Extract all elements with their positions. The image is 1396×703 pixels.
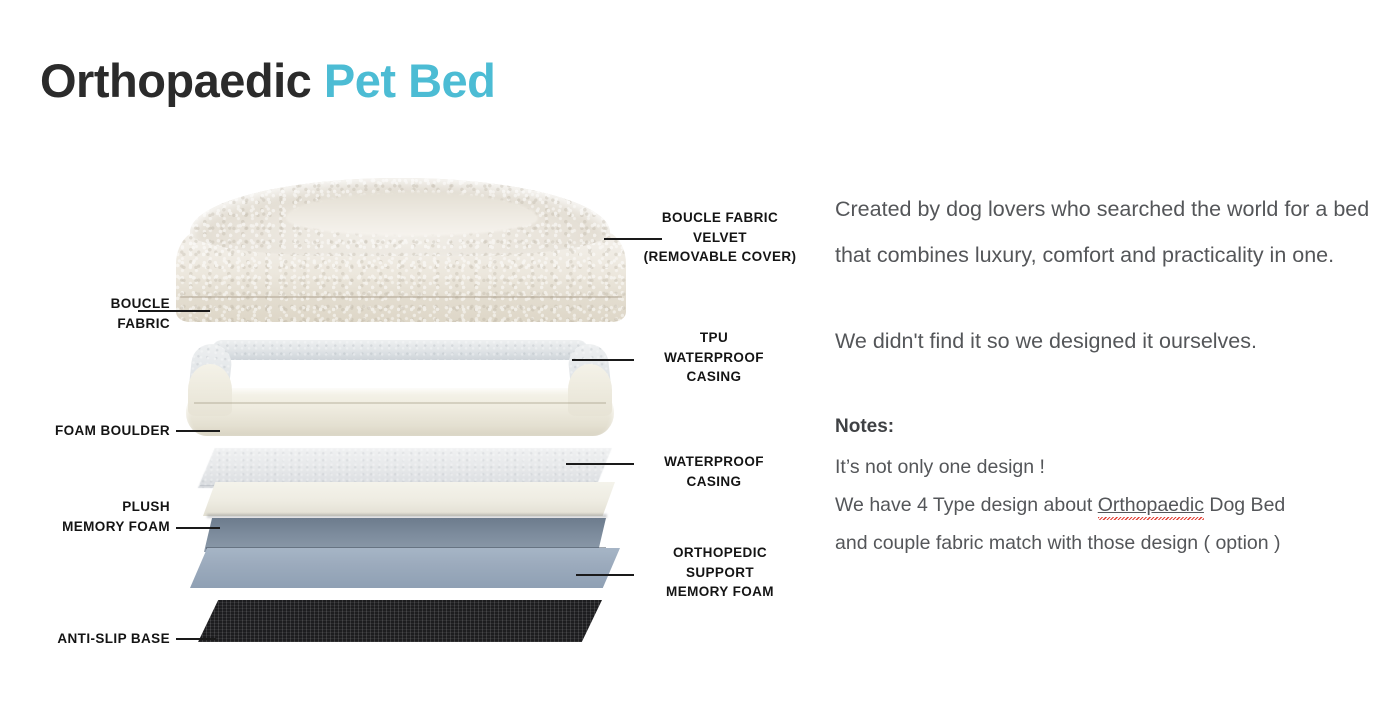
callout-tpu-waterproof-casing: TPU WATERPROOF CASING <box>634 328 794 387</box>
orthopedic-foam-face <box>190 548 620 588</box>
foam-boulder-cap-left <box>188 364 232 416</box>
layer-plush-memory-foam <box>203 482 615 520</box>
anti-slip-mesh-texture <box>198 600 602 642</box>
leader-line-anti-slip-base <box>176 638 216 640</box>
callout-line-2: WATERPROOF <box>634 348 794 368</box>
callout-line-1: ANTI-SLIP BASE <box>12 629 170 649</box>
marketing-copy-column: Created by dog lovers who searched the w… <box>835 186 1390 562</box>
page-title-primary: Orthopaedic <box>40 54 311 107</box>
callout-line-2: FABRIC <box>22 314 170 334</box>
tpu-texture <box>212 340 588 360</box>
leader-line-orthopedic-support-foam <box>576 574 634 576</box>
callout-line-2: MEMORY FOAM <box>12 517 170 537</box>
tpu-back-rail <box>212 340 588 360</box>
callout-waterproof-casing: WATERPROOF CASING <box>634 452 794 491</box>
callout-anti-slip-base: ANTI-SLIP BASE <box>12 629 170 649</box>
cushion-seam <box>180 296 622 298</box>
callout-line-2: SUPPORT <box>634 563 806 583</box>
callout-boucle-fabric: BOUCLE FABRIC <box>22 294 170 333</box>
leader-line-foam-boulder <box>176 430 220 432</box>
leader-line-plush-memory-foam <box>176 527 220 529</box>
intro-paragraph: Created by dog lovers who searched the w… <box>835 186 1390 278</box>
layer-foam-boulder <box>186 388 614 436</box>
leader-line-waterproof-casing <box>566 463 634 465</box>
notes-line-2-suffix: Dog Bed <box>1204 494 1285 516</box>
callout-line-1: TPU <box>634 328 794 348</box>
notes-line-1: It’s not only one design ! <box>835 448 1390 486</box>
callout-line-3: MEMORY FOAM <box>634 582 806 602</box>
callout-line-1: WATERPROOF <box>634 452 794 472</box>
callout-foam-boulder: FOAM BOULDER <box>12 421 170 441</box>
cushion-hollow <box>286 192 538 236</box>
notes-block: Notes: It’s not only one design ! We hav… <box>835 416 1390 562</box>
notes-line-2-prefix: We have 4 Type design about <box>835 494 1098 516</box>
layer-boucle-cushion <box>176 178 626 338</box>
cushion-bolster <box>190 178 610 256</box>
callout-line-3: (REMOVABLE COVER) <box>634 247 806 267</box>
callout-orthopedic-support-foam: ORTHOPEDIC SUPPORT MEMORY FOAM <box>634 543 806 602</box>
layer-orthopedic-memory-foam <box>190 518 620 590</box>
plush-memory-foam-face <box>203 482 615 516</box>
notes-heading: Notes: <box>835 416 1390 438</box>
foam-boulder-cap-right <box>568 364 612 416</box>
notes-line-2: We have 4 Type design about Orthopaedic … <box>835 486 1390 524</box>
callout-line-1: ORTHOPEDIC <box>634 543 806 563</box>
callout-line-1: BOUCLE FABRIC <box>634 208 806 228</box>
notes-line-3: and couple fabric match with those desig… <box>835 524 1390 562</box>
notes-misspelled-word: Orthopaedic <box>1098 494 1204 516</box>
foam-boulder-seam <box>194 402 606 404</box>
callout-line-2: VELVET <box>634 228 806 248</box>
callout-boucle-velvet-cover: BOUCLE FABRIC VELVET (REMOVABLE COVER) <box>634 208 806 267</box>
leader-line-tpu-waterproof-casing <box>572 359 634 361</box>
layer-anti-slip-base <box>198 600 602 642</box>
callout-line-1: FOAM BOULDER <box>12 421 170 441</box>
leader-line-boucle-fabric <box>138 310 210 312</box>
page-title-accent: Pet Bed <box>324 54 496 107</box>
callout-line-1: PLUSH <box>12 497 170 517</box>
callout-line-2: CASING <box>634 472 794 492</box>
callout-plush-memory-foam: PLUSH MEMORY FOAM <box>12 497 170 536</box>
exploded-product-diagram: BOUCLE FABRIC FOAM BOULDER PLUSH MEMORY … <box>0 150 820 680</box>
secondary-paragraph: We didn't find it so we designed it ours… <box>835 318 1390 364</box>
callout-line-3: CASING <box>634 367 794 387</box>
page-title: Orthopaedic Pet Bed <box>40 55 495 107</box>
